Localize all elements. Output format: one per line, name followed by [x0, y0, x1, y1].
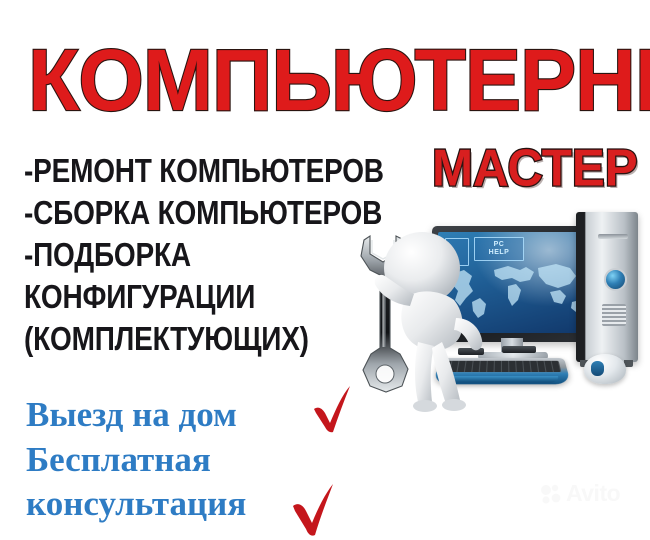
- mouse-scroll-wheel: [591, 361, 604, 376]
- mouse: [584, 354, 626, 384]
- headline-title: КОМПЬЮТЕРНЫЙ: [28, 36, 650, 123]
- avito-watermark-label: Avito: [566, 482, 620, 505]
- service-item: -ПОДБОРКА: [24, 234, 384, 276]
- offer-item-home-visit: Выезд на дом: [26, 392, 246, 438]
- 3d-character-figure: [370, 226, 502, 412]
- offers-list: Выезд на дом Бесплатная консультация: [26, 392, 246, 526]
- service-item: КОНФИГУРАЦИИ: [24, 276, 384, 318]
- offer-item-free-consultation-line1: Бесплатная: [26, 438, 246, 482]
- offer-item-free-consultation-line2: консультация: [26, 482, 246, 526]
- tower-vent-grille: [602, 304, 626, 326]
- tower-power-button-icon: [604, 268, 627, 291]
- services-list: -РЕМОНТ КОМПЬЮТЕРОВ -СБОРКА КОМПЬЮТЕРОВ …: [24, 150, 384, 360]
- avito-logo-icon: [540, 483, 562, 505]
- service-item: -СБОРКА КОМПЬЮТЕРОВ: [24, 192, 384, 234]
- computer-repair-illustration: PC HELP: [336, 206, 650, 421]
- desk-accessory: [502, 346, 536, 353]
- pc-tower: [576, 212, 638, 362]
- tower-optical-drive: [598, 234, 628, 239]
- poster-canvas: КОМПЬЮТЕРНЫЙ МАСТЕР -РЕМОНТ КОМПЬЮТЕРОВ …: [0, 0, 650, 540]
- service-item: (КОМПЛЕКТУЮЩИХ): [24, 318, 384, 360]
- checkmark-icon: [289, 482, 337, 538]
- service-item: -РЕМОНТ КОМПЬЮТЕРОВ: [24, 150, 384, 192]
- secondary-headline-master: МАСТЕР: [432, 142, 638, 196]
- avito-watermark: Avito: [540, 482, 620, 505]
